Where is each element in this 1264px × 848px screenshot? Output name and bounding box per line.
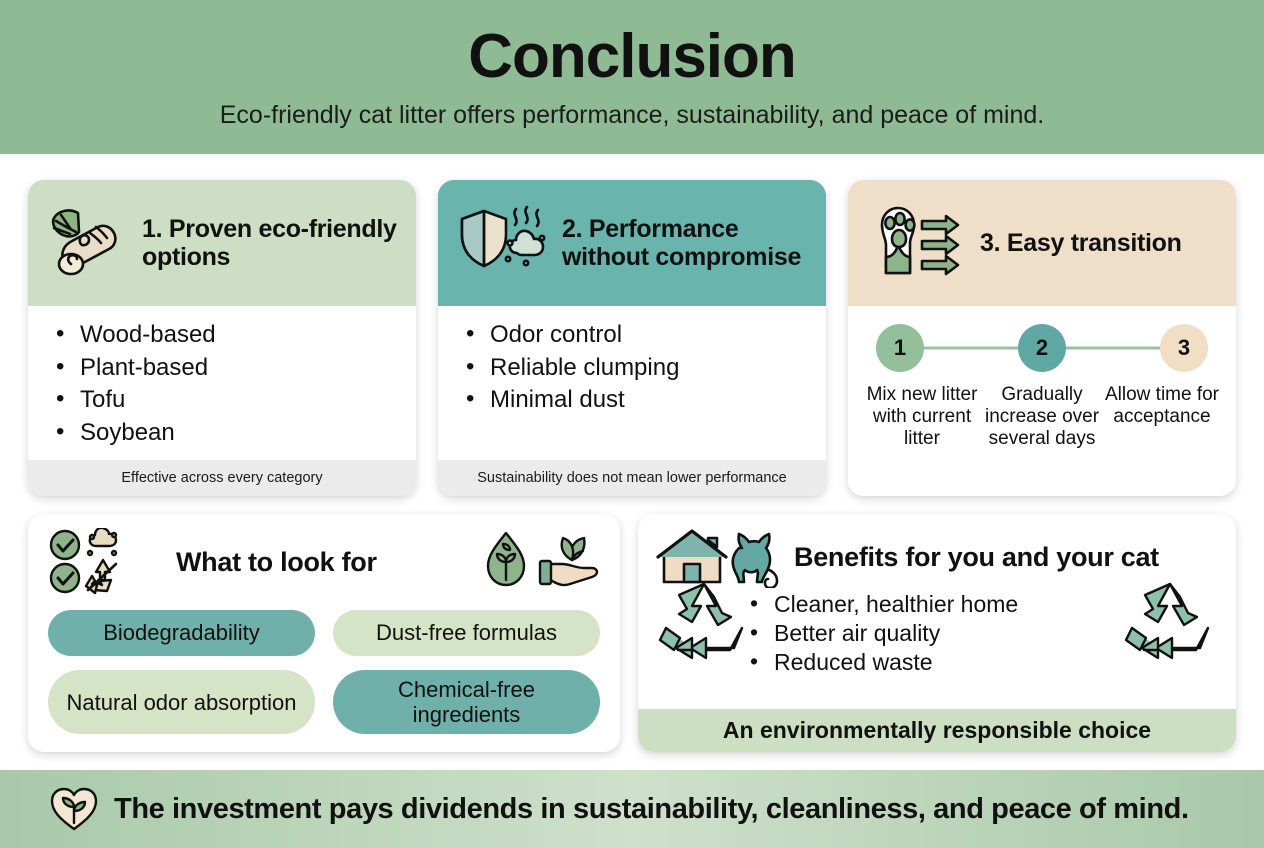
paw-arrows-icon [864, 201, 968, 285]
pill-chemical-free-ingredients[interactable]: Chemical-free ingredients [333, 670, 600, 734]
benefits-body: Benefits for you and your cat Cleane [638, 514, 1236, 709]
look-for-pill-grid: Biodegradability Dust-free formulas Natu… [48, 610, 600, 734]
page-title: Conclusion [468, 24, 796, 89]
pill-natural-odor-absorption[interactable]: Natural odor absorption [48, 670, 315, 734]
pill-dust-free-formulas[interactable]: Dust-free formulas [333, 610, 600, 656]
list-item: Minimal dust [464, 385, 808, 416]
card-footer-note: Effective across every category [28, 460, 416, 496]
timeline-labels: Mix new litter with current litter Gradu… [862, 384, 1222, 450]
card-performance-without-compromise[interactable]: 2. Performance without compromise Odor c… [438, 180, 826, 496]
list-item: Tofu [54, 385, 398, 416]
transition-timeline: 1 2 3 Mix new litter with current litter… [848, 306, 1236, 496]
infographic-page: Conclusion Eco-friendly cat litter offer… [0, 0, 1264, 848]
card-header: 3. Easy transition [848, 180, 1236, 306]
wood-log-leaf-icon [44, 201, 130, 285]
bullet-list: Odor control Reliable clumping Minimal d… [464, 320, 808, 416]
footer-band: The investment pays dividends in sustain… [0, 770, 1264, 848]
bottom-card-row: What to look for Biodegra [28, 514, 1236, 752]
benefits-content-row: Cleaner, healthier home Better air quali… [654, 590, 1220, 678]
recycle-icon [1118, 578, 1222, 664]
card-easy-transition[interactable]: 3. Easy transition 1 2 3 Mix new litter … [848, 180, 1236, 496]
top-card-row: 1. Proven eco-friendly options Wood-base… [28, 180, 1236, 496]
card-title: 1. Proven eco-friendly options [142, 215, 400, 271]
footer-text: The investment pays dividends in sustain… [114, 793, 1189, 826]
hero-header: Conclusion Eco-friendly cat litter offer… [0, 0, 1264, 154]
pill-biodegradability[interactable]: Biodegradability [48, 610, 315, 656]
card-title: 2. Performance without compromise [562, 215, 810, 271]
benefits-title: Benefits for you and your cat [794, 542, 1159, 573]
benefits-footer-note: An environmentally responsible choice [638, 709, 1236, 752]
card-header: 2. Performance without compromise [438, 180, 826, 306]
check-dust-recycle-icons [48, 528, 166, 596]
timeline-label-2: Gradually increase over several days [982, 384, 1102, 450]
card-body: Odor control Reliable clumping Minimal d… [438, 306, 826, 460]
list-item: Plant-based [54, 353, 398, 384]
card-what-to-look-for[interactable]: What to look for Biodegra [28, 514, 620, 752]
page-subtitle: Eco-friendly cat litter offers performan… [220, 101, 1044, 130]
list-item: Soybean [54, 418, 398, 449]
look-for-title: What to look for [176, 547, 377, 578]
recycle-icon [652, 578, 756, 664]
timeline-step-3[interactable]: 3 [1160, 324, 1208, 372]
card-header: 1. Proven eco-friendly options [28, 180, 416, 306]
card-body: Wood-based Plant-based Tofu Soybean [28, 306, 416, 460]
card-proven-eco-friendly-options[interactable]: 1. Proven eco-friendly options Wood-base… [28, 180, 416, 496]
bullet-list: Wood-based Plant-based Tofu Soybean [54, 320, 398, 449]
list-item: Wood-based [54, 320, 398, 351]
timeline-step-2[interactable]: 2 [1018, 324, 1066, 372]
timeline-label-1: Mix new litter with current litter [862, 384, 982, 450]
card-title: 3. Easy transition [980, 229, 1182, 257]
timeline-label-3: Allow time for acceptance [1102, 384, 1222, 450]
list-item: Reliable clumping [464, 353, 808, 384]
list-item: Odor control [464, 320, 808, 351]
heart-leaf-icon [48, 783, 100, 835]
leaf-droplet-hand-sprout-icons [480, 530, 600, 594]
timeline-step-1[interactable]: 1 [876, 324, 924, 372]
look-for-header: What to look for [48, 528, 600, 596]
card-footer-note: Sustainability does not mean lower perfo… [438, 460, 826, 496]
card-benefits[interactable]: Benefits for you and your cat Cleane [638, 514, 1236, 752]
shield-odor-dust-icon [454, 201, 550, 285]
timeline-track: 1 2 3 [862, 324, 1222, 372]
